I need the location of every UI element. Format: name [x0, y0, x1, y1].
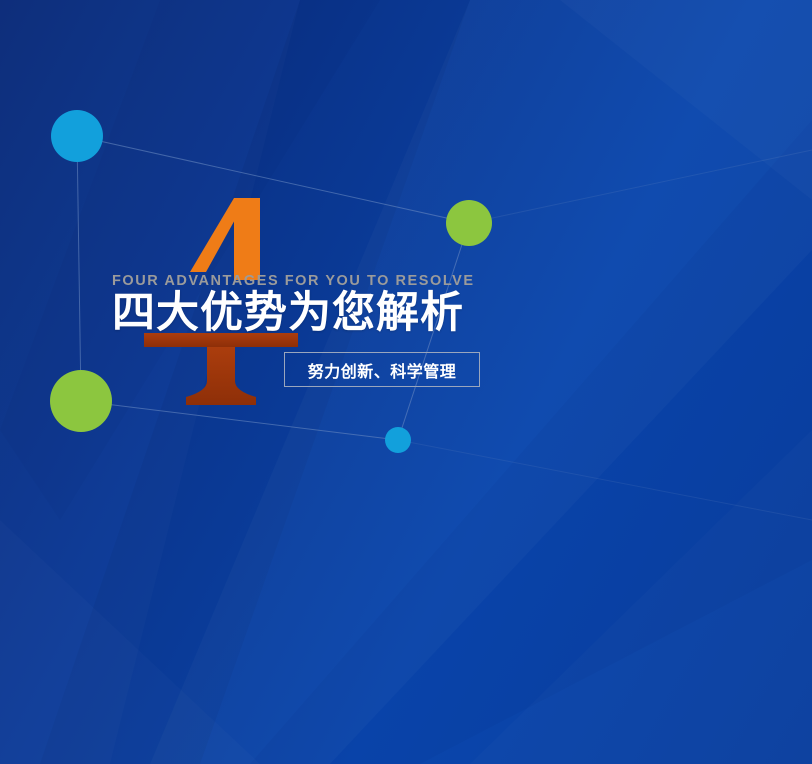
tagline-text: 努力创新、科学管理 — [308, 358, 457, 382]
promo-banner: FOUR ADVANTAGES FOR YOU TO RESOLVE 四大优势为… — [0, 0, 812, 764]
pillar-column-icon — [144, 333, 298, 405]
node-cyan-top-left — [51, 110, 103, 162]
edge-cyan-tl-to-green-bl — [77, 136, 81, 401]
page-headline: 四大优势为您解析 — [112, 289, 532, 337]
edge-extra-lower-right — [398, 440, 812, 520]
node-green-bottom-left — [50, 370, 112, 432]
banner-content: FOUR ADVANTAGES FOR YOU TO RESOLVE 四大优势为… — [112, 196, 532, 337]
tagline-box: 努力创新、科学管理 — [284, 352, 480, 387]
node-cyan-bottom — [385, 427, 411, 453]
english-subtitle: FOUR ADVANTAGES FOR YOU TO RESOLVE — [112, 196, 532, 289]
edge-green-bl-to-cyan-bottom — [81, 401, 398, 440]
